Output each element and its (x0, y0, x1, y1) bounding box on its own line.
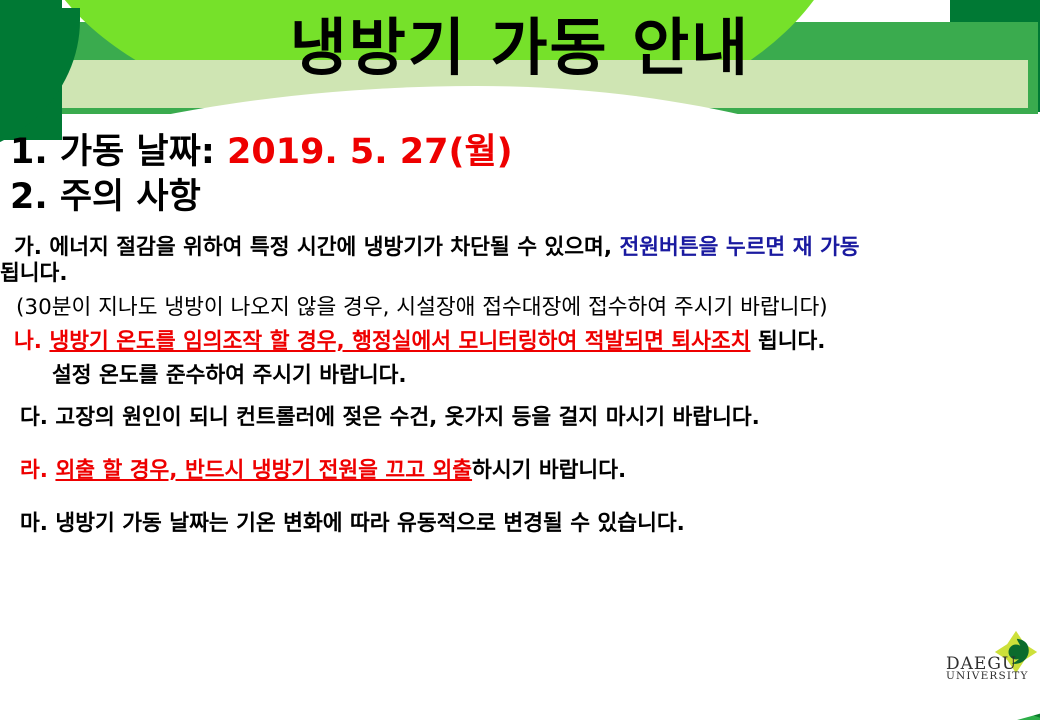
note-ra-text: 하시기 바랍니다. (472, 458, 626, 483)
note-na-line1: 나. 냉방기 온도를 임의조작 할 경우, 행정실에서 모니터링하여 적발되면 … (0, 329, 1040, 356)
spacer (0, 432, 1040, 458)
spacer (0, 390, 1040, 405)
line-item-1: 1. 가동 날짜: 2019. 5. 27(월) (0, 130, 1040, 175)
item2-label: 2. 주의 사항 (10, 177, 201, 217)
note-ra-highlight: 외출 할 경우, 반드시 냉방기 전원을 끄고 외출 (55, 458, 472, 483)
note-ga-text2: 됩니다. (0, 261, 68, 286)
slide-body: 1. 가동 날짜: 2019. 5. 27(월) 2. 주의 사항 가. 에너지… (0, 130, 1040, 538)
note-na-line2: 설정 온도를 준수하여 주시기 바랍니다. (0, 363, 1040, 390)
note-na-text: 됩니다. (750, 329, 825, 354)
logo-sub: UNIVERSITY (946, 672, 1029, 682)
university-logo: DAEGU UNIVERSITY (946, 630, 1040, 694)
note-na-marker: 나. (14, 329, 49, 354)
note-da: 다. 고장의 원인이 되니 컨트롤러에 젖은 수건, 옷가지 등을 걸지 마시기… (0, 405, 1040, 432)
note-na-highlight: 냉방기 온도를 임의조작 할 경우, 행정실에서 모니터링하여 적발되면 퇴사조… (49, 329, 750, 354)
spacer (0, 322, 1040, 329)
logo-wordmark: DAEGU UNIVERSITY (946, 656, 1029, 682)
spacer (0, 220, 1040, 235)
note-ga-highlight: 전원버튼을 누르면 재 가동 (619, 235, 859, 260)
note-ga-text1: 가. 에너지 절감을 위하여 특정 시간에 냉방기가 차단될 수 있으며, (14, 235, 619, 260)
spacer (0, 485, 1040, 511)
spacer (0, 288, 1040, 295)
spacer (0, 356, 1040, 363)
slide-canvas: 냉방기 가동 안내 1. 가동 날짜: 2019. 5. 27(월) 2. 주의… (0, 0, 1040, 720)
note-ra-marker: 라. (20, 458, 55, 483)
note-ra: 라. 외출 할 경우, 반드시 냉방기 전원을 끄고 외출하시기 바랍니다. (0, 458, 1040, 485)
note-ga-line1: 가. 에너지 절감을 위하여 특정 시간에 냉방기가 차단될 수 있으며, 전원… (0, 235, 1040, 262)
decor-bottom-bright-green (0, 596, 850, 720)
slide-title: 냉방기 가동 안내 (0, 14, 1040, 82)
note-ma: 마. 냉방기 가동 날짜는 기온 변화에 따라 유동적으로 변경될 수 있습니다… (0, 511, 1040, 538)
decor-bottom-mid-green (0, 604, 1040, 720)
decor-bottom-white-sweep (0, 560, 1040, 720)
decor-bottom-dark-green (0, 560, 1040, 720)
line-item-2: 2. 주의 사항 (0, 175, 1040, 220)
item1-label: 1. 가동 날짜: (10, 132, 227, 172)
note-ga-line2: 됩니다. (0, 261, 1040, 288)
item1-date: 2019. 5. 27(월) (227, 132, 513, 172)
note-ga-parenthetical: (30분이 지나도 냉방이 나오지 않을 경우, 시설장애 접수대장에 접수하여… (0, 295, 1040, 322)
